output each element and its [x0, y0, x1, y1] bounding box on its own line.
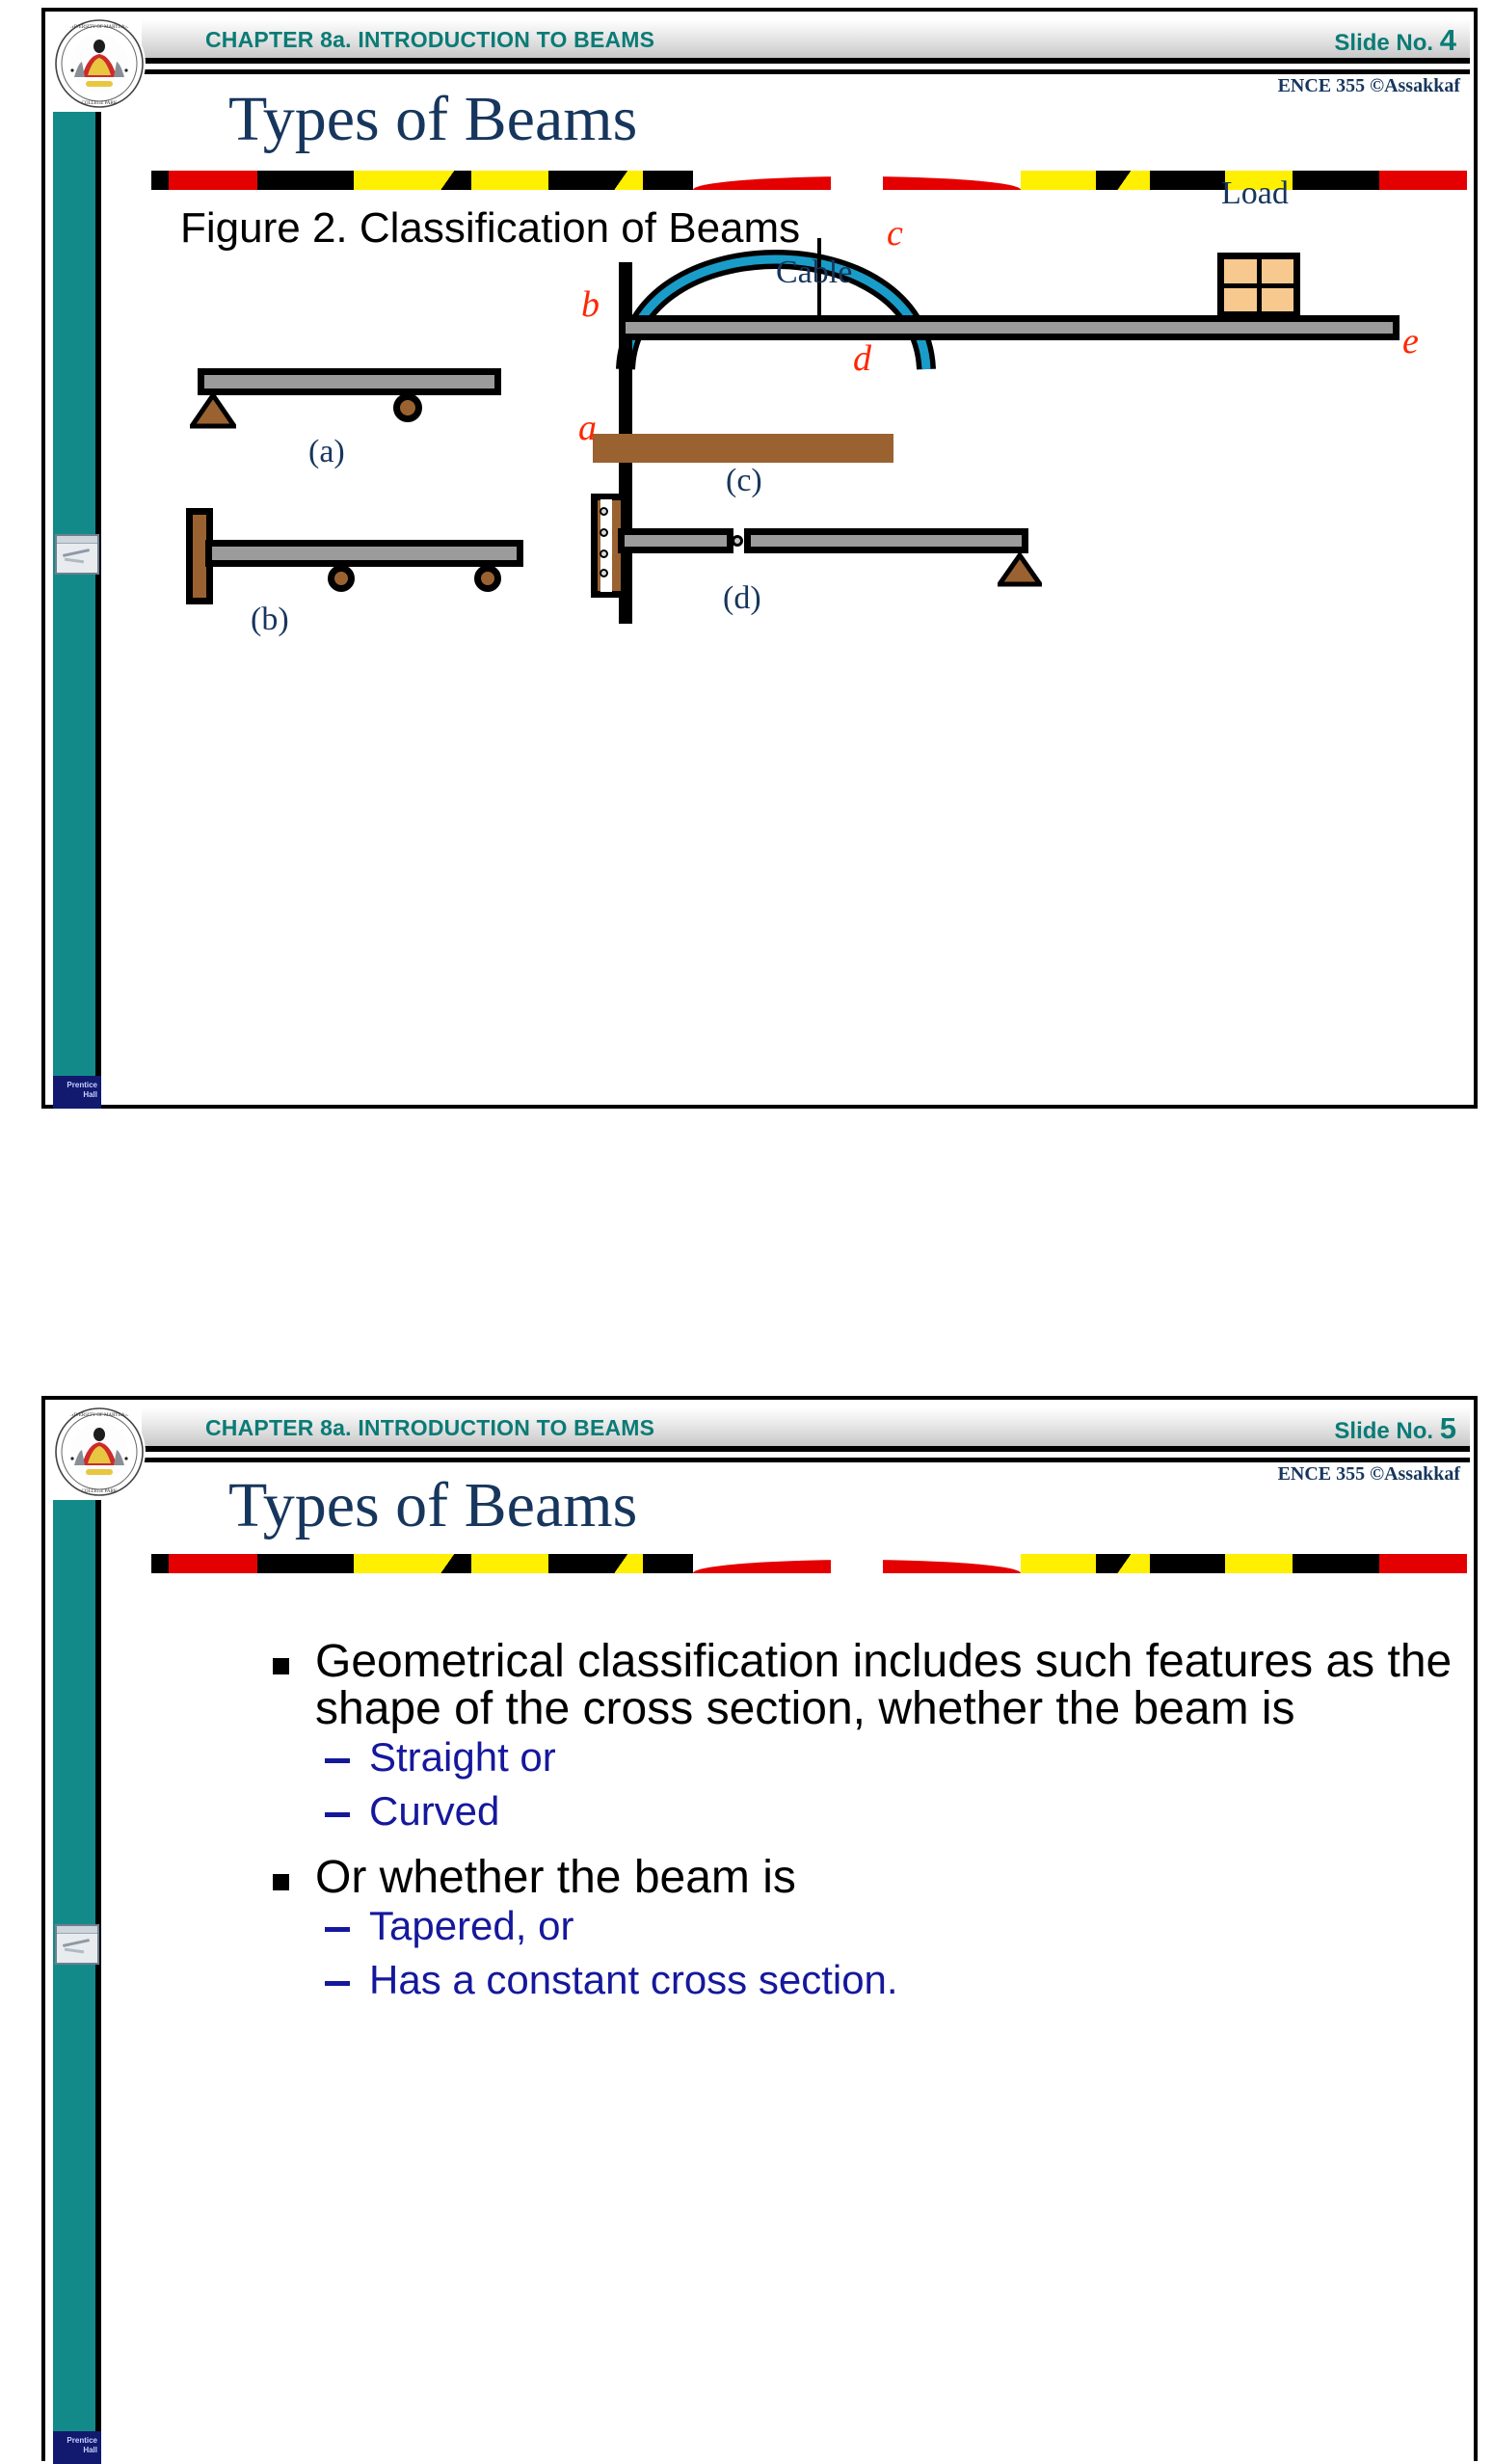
beam-d-segment-2 — [744, 528, 1028, 553]
label-d-caption: (d) — [723, 580, 761, 617]
sidebar-thumbnail-icon — [55, 534, 99, 575]
beam-b-roller-support-2-icon — [474, 565, 501, 592]
label-point-b: b — [581, 283, 600, 326]
course-attribution: ENCE 355 ©Assakkaf — [1278, 1463, 1460, 1486]
bullet-level2-item: Tapered, or — [269, 1906, 1454, 1946]
slide-5: CHAPTER 8a. INTRODUCTION TO BEAMS Slide … — [41, 1396, 1478, 2461]
sidebar-thumbnail-icon — [55, 1924, 99, 1965]
header-rule — [142, 69, 1470, 74]
svg-text:COLLEGE PARK: COLLEGE PARK — [82, 1489, 118, 1494]
dash-bullet-icon — [325, 1812, 350, 1817]
slide-5-bullet-list: Geometrical classification includes such… — [269, 1639, 1454, 2014]
square-bullet-icon — [273, 1658, 289, 1674]
bullet-text: Tapered, or — [369, 1903, 573, 1948]
chapter-title: CHAPTER 8a. INTRODUCTION TO BEAMS — [205, 27, 654, 53]
publisher-line-1: Prentice — [53, 2436, 97, 2446]
beam-a-pin-support-icon — [190, 393, 236, 435]
university-seal-icon: UNIVERSITY OF MARYLAND COLLEGE PARK — [53, 17, 146, 110]
label-c-caption: (c) — [726, 463, 762, 499]
slide-number-text: Slide No. — [1334, 30, 1433, 56]
slide-number-label: Slide No. 5 — [1334, 1411, 1456, 1446]
course-attribution: ENCE 355 ©Assakkaf — [1278, 75, 1460, 97]
publisher-line-2: Hall — [53, 1090, 97, 1100]
slide-number-label: Slide No. 4 — [1334, 23, 1456, 58]
label-point-a: a — [578, 407, 597, 449]
slide-4-sidebar: Prentice Hall — [53, 112, 101, 1109]
prentice-hall-logo: Prentice Hall — [53, 1076, 101, 1109]
slide-number-value: 4 — [1440, 23, 1456, 57]
label-cable: Cable — [776, 254, 852, 291]
beam-a-roller-support-icon — [393, 393, 422, 422]
beam-a-member — [198, 368, 501, 395]
load-block-icon — [1217, 253, 1300, 318]
slide-5-sidebar: Prentice Hall — [53, 1500, 101, 2464]
label-load: Load — [1221, 175, 1289, 212]
square-bullet-icon — [273, 1874, 289, 1890]
bullet-level2-item: Straight or — [269, 1737, 1454, 1778]
beam-d-pin-support-icon — [998, 553, 1042, 593]
bullet-text: Or whether the beam is — [315, 1852, 796, 1903]
slide-number-value: 5 — [1440, 1411, 1456, 1445]
bullet-level1-item: Or whether the beam is — [269, 1855, 1454, 1902]
dash-bullet-icon — [325, 1981, 350, 1986]
slide-5-header-bar: CHAPTER 8a. INTRODUCTION TO BEAMS Slide … — [142, 1407, 1470, 1452]
label-a-caption: (a) — [308, 434, 345, 470]
slide-5-title: Types of Beams — [228, 1469, 637, 1542]
prentice-hall-logo: Prentice Hall — [53, 2431, 101, 2464]
svg-text:UNIVERSITY OF MARYLAND: UNIVERSITY OF MARYLAND — [67, 25, 132, 30]
beam-d-internal-hinge-icon — [732, 535, 743, 547]
label-point-d: d — [853, 337, 871, 380]
bullet-text: Has a constant cross section. — [369, 1957, 898, 2002]
slide-number-text: Slide No. — [1334, 1418, 1433, 1444]
chapter-title: CHAPTER 8a. INTRODUCTION TO BEAMS — [205, 1415, 654, 1441]
slide-4-title: Types of Beams — [228, 83, 637, 156]
university-seal-icon: UNIVERSITY OF MARYLAND COLLEGE PARK — [53, 1406, 146, 1498]
svg-text:UNIVERSITY OF MARYLAND: UNIVERSITY OF MARYLAND — [67, 1413, 132, 1418]
beam-b-roller-support-1-icon — [328, 565, 355, 592]
bullet-text: Geometrical classification includes such… — [315, 1636, 1452, 1734]
dash-bullet-icon — [325, 1927, 350, 1932]
bullet-level2-item: Curved — [269, 1791, 1454, 1832]
bullet-level1-item: Geometrical classification includes such… — [269, 1639, 1454, 1733]
label-point-c: c — [887, 212, 903, 254]
bullet-text: Straight or — [369, 1734, 556, 1780]
bullet-text: Curved — [369, 1788, 499, 1834]
beam-b-member — [205, 540, 523, 567]
bullet-level2-item: Has a constant cross section. — [269, 1960, 1454, 2000]
beam-c-ground-base — [593, 434, 893, 463]
svg-text:COLLEGE PARK: COLLEGE PARK — [82, 101, 118, 106]
header-rule — [142, 1458, 1470, 1462]
beam-d-segment-1 — [618, 528, 733, 553]
publisher-line-1: Prentice — [53, 1081, 97, 1090]
label-b-caption: (b) — [251, 602, 289, 638]
slide-4-header-bar: CHAPTER 8a. INTRODUCTION TO BEAMS Slide … — [142, 19, 1470, 64]
label-point-e: e — [1402, 320, 1419, 362]
beam-c-deck-member — [619, 315, 1400, 340]
dash-bullet-icon — [325, 1758, 350, 1763]
beam-d-guide-slot — [600, 499, 612, 592]
publisher-line-2: Hall — [53, 2446, 97, 2455]
maryland-flag-divider — [151, 1554, 1467, 1573]
slide-4: CHAPTER 8a. INTRODUCTION TO BEAMS Slide … — [41, 8, 1478, 1109]
beam-classification-figure: (a) (b) Cable Load c b d e a (c) — [149, 262, 1470, 1101]
